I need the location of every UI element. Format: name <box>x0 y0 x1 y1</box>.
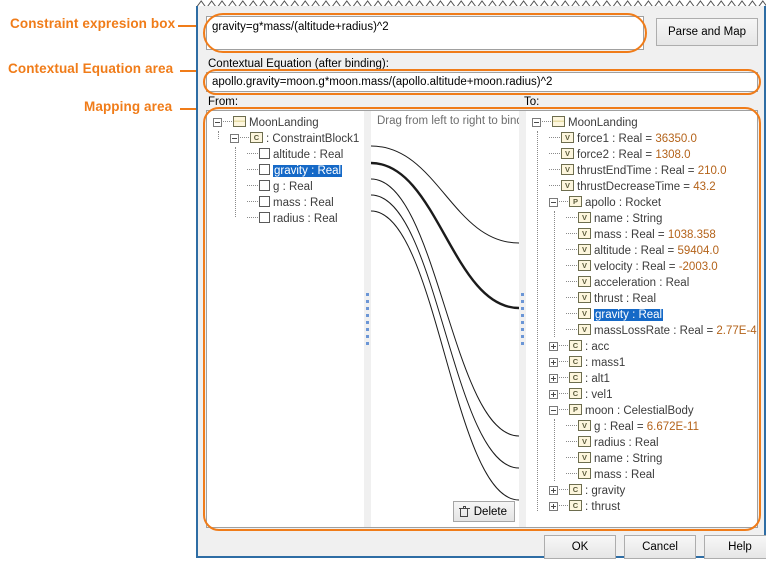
tree-connector <box>554 419 556 481</box>
tree-row[interactable]: g : Real <box>247 179 313 195</box>
expand-icon[interactable] <box>549 342 558 351</box>
value-property-icon: V <box>578 212 591 223</box>
tree-row-label: : alt1 <box>585 373 610 385</box>
tree-row-value: 43.2 <box>693 181 715 193</box>
binding-curves <box>371 111 519 527</box>
tree-connector <box>566 227 578 243</box>
tree-row[interactable]: Vmass : Real = 1038.358 <box>566 227 716 243</box>
tree-row-label: : thrust <box>585 501 620 513</box>
tree-row-label: g : Real <box>273 181 313 193</box>
expression-row: gravity=g*mass/(altitude+radius)^2 Parse… <box>206 16 758 52</box>
tree-row-label: : mass1 <box>585 357 625 369</box>
tree-row[interactable]: VmassLossRate : Real = 2.77E-4 <box>566 323 757 339</box>
tree-row-value: 36350.0 <box>655 133 697 145</box>
tree-connector <box>566 451 578 467</box>
value-property-icon: V <box>561 180 574 191</box>
value-property-icon: V <box>578 324 591 335</box>
tree-connector <box>559 201 568 203</box>
tree-row[interactable]: Vacceleration : Real <box>566 275 689 291</box>
help-button[interactable]: Help <box>704 535 766 559</box>
tree-row[interactable]: Vname : String <box>566 211 662 227</box>
contextual-equation-text: apollo.gravity=moon.g*moon.mass/(apollo.… <box>212 76 552 88</box>
mapping-area: MoonLandingC: ConstraintBlock1altitude :… <box>206 110 758 528</box>
tree-row-label: apollo : Rocket <box>585 197 661 209</box>
tree-connector <box>566 323 578 339</box>
tree-connector <box>566 211 578 227</box>
constraint-parameter-icon <box>259 148 270 159</box>
tree-connector <box>554 211 556 337</box>
tree-row-value: 1308.0 <box>655 149 690 161</box>
tree-row[interactable]: MoonLanding <box>213 115 319 131</box>
trash-icon <box>459 506 470 518</box>
parse-and-map-button[interactable]: Parse and Map <box>656 18 758 46</box>
tree-row[interactable]: Papollo : Rocket <box>549 195 661 211</box>
collapse-icon[interactable] <box>230 134 239 143</box>
annotation-mapping-area: Mapping area <box>84 99 172 114</box>
block-icon <box>552 116 565 127</box>
delete-button-label: Delete <box>474 506 507 518</box>
constraint-block-icon: C <box>569 484 582 495</box>
tree-connector <box>218 131 220 139</box>
tree-row-label: thrustDecreaseTime = 43.2 <box>577 181 716 193</box>
tree-connector <box>566 467 578 483</box>
value-property-icon: V <box>561 132 574 143</box>
tree-row-value: 210.0 <box>698 165 727 177</box>
tree-row-label: gravity : Real <box>273 165 342 177</box>
expand-icon[interactable] <box>549 390 558 399</box>
tree-row[interactable]: VthrustEndTime : Real = 210.0 <box>549 163 726 179</box>
value-property-icon: V <box>578 420 591 431</box>
tree-row-label: velocity : Real = -2003.0 <box>594 261 718 273</box>
tree-row-value: 59404.0 <box>677 245 719 257</box>
value-property-icon: V <box>561 148 574 159</box>
tree-row-label: MoonLanding <box>568 117 638 129</box>
contextual-equation-box: apollo.gravity=moon.g*moon.mass/(apollo.… <box>206 72 758 92</box>
tree-row-label: altitude : Real <box>273 149 343 161</box>
tree-row[interactable]: Vthrust : Real <box>566 291 656 307</box>
tree-row[interactable]: Vforce2 : Real = 1308.0 <box>549 147 691 163</box>
tree-row-value: 1038.358 <box>668 229 716 241</box>
tree-connector <box>566 243 578 259</box>
tree-row[interactable]: gravity : Real <box>247 163 342 179</box>
to-label: To: <box>524 96 539 108</box>
collapse-icon[interactable] <box>213 118 222 127</box>
tree-row-label: : vel1 <box>585 389 613 401</box>
constraint-block-icon: C <box>250 132 263 143</box>
constraint-mapping-dialog: gravity=g*mass/(altitude+radius)^2 Parse… <box>196 6 766 558</box>
tree-row-label: force1 : Real = 36350.0 <box>577 133 697 145</box>
constraint-parameter-icon <box>259 164 270 175</box>
tree-row[interactable]: C: vel1 <box>549 387 613 403</box>
tree-row-label: : acc <box>585 341 609 353</box>
tree-row-value: -2003.0 <box>679 261 718 273</box>
block-icon <box>233 116 246 127</box>
constraint-parameter-icon <box>259 180 270 191</box>
collapse-icon[interactable] <box>549 406 558 415</box>
constraint-expression-box[interactable]: gravity=g*mass/(altitude+radius)^2 <box>206 16 644 50</box>
value-property-icon: V <box>578 276 591 287</box>
binding-canvas[interactable]: Drag from left to right to bind. Delete <box>371 111 519 527</box>
tree-connector <box>537 131 539 511</box>
value-property-icon: V <box>578 452 591 463</box>
tree-row-label: force2 : Real = 1308.0 <box>577 149 691 161</box>
tree-connector <box>559 489 568 491</box>
tree-row-label: name : String <box>594 453 662 465</box>
tree-row[interactable]: Vradius : Real <box>566 435 659 451</box>
binding-curve[interactable] <box>371 146 519 243</box>
part-property-icon: P <box>569 196 582 207</box>
tree-row[interactable]: C: thrust <box>549 499 620 515</box>
tree-row-label: acceleration : Real <box>594 277 689 289</box>
left-splitter[interactable] <box>364 111 371 527</box>
tree-row-label: moon : CelestialBody <box>585 405 694 417</box>
tree-connector <box>549 179 561 195</box>
collapse-icon[interactable] <box>549 198 558 207</box>
tree-row-label: mass : Real = 1038.358 <box>594 229 716 241</box>
delete-binding-button[interactable]: Delete <box>453 501 515 522</box>
constraint-parameter-icon <box>259 196 270 207</box>
tree-row-label: mass : Real <box>594 469 655 481</box>
tree-connector <box>549 147 561 163</box>
dialog-button-row: OK Cancel Help <box>202 535 764 565</box>
tree-connector <box>235 147 237 217</box>
tree-connector <box>566 419 578 435</box>
value-property-icon: V <box>561 164 574 175</box>
constraint-block-icon: C <box>569 356 582 367</box>
tree-row[interactable]: C: ConstraintBlock1 <box>230 131 359 147</box>
tree-connector <box>247 163 259 179</box>
right-splitter[interactable] <box>519 111 526 527</box>
tree-row[interactable]: Valtitude : Real = 59404.0 <box>566 243 719 259</box>
tree-row-label: MoonLanding <box>249 117 319 129</box>
tree-row[interactable]: C: alt1 <box>549 371 610 387</box>
tree-row[interactable]: MoonLanding <box>532 115 638 131</box>
value-property-icon: V <box>578 260 591 271</box>
annotation-constraint-expression-box: Constraint expresion box <box>10 16 175 31</box>
part-property-icon: P <box>569 404 582 415</box>
tree-connector <box>549 163 561 179</box>
tree-connector <box>559 409 568 411</box>
tree-row-label: mass : Real <box>273 197 334 209</box>
tree-connector <box>247 147 259 163</box>
tree-row-label: thrust : Real <box>594 293 656 305</box>
collapse-icon[interactable] <box>532 118 541 127</box>
tree-row[interactable]: C: gravity <box>549 483 625 499</box>
tree-row[interactable]: Vg : Real = 6.672E-11 <box>566 419 699 435</box>
tree-row[interactable]: mass : Real <box>247 195 334 211</box>
tree-row-label: gravity : Real <box>594 309 663 321</box>
tree-row-value: 2.77E-4 <box>716 325 756 337</box>
tree-connector <box>240 137 249 139</box>
tree-connector <box>247 179 259 195</box>
tree-row[interactable]: C: acc <box>549 339 609 355</box>
tree-row-label: radius : Real <box>273 213 338 225</box>
value-property-icon: V <box>578 468 591 479</box>
tree-connector <box>566 291 578 307</box>
tree-row-label: name : String <box>594 213 662 225</box>
tree-connector <box>223 121 232 123</box>
right-splitter-grip <box>521 293 524 345</box>
contextual-equation-label: Contextual Equation (after binding): <box>208 58 389 70</box>
tree-connector <box>566 259 578 275</box>
tree-row[interactable]: Vmass : Real <box>566 467 655 483</box>
tree-row[interactable]: radius : Real <box>247 211 338 227</box>
annotation-contextual-equation-area: Contextual Equation area <box>8 61 173 76</box>
cancel-button[interactable]: Cancel <box>624 535 696 559</box>
value-property-icon: V <box>578 228 591 239</box>
constraint-block-icon: C <box>569 340 582 351</box>
expand-icon[interactable] <box>549 486 558 495</box>
binding-curve[interactable] <box>371 179 519 436</box>
tree-row-label: g : Real = 6.672E-11 <box>594 421 699 433</box>
tree-connector <box>542 121 551 123</box>
tree-row-label: : gravity <box>585 485 625 497</box>
constraint-block-icon: C <box>569 388 582 399</box>
tree-row-label: thrustEndTime : Real = 210.0 <box>577 165 726 177</box>
expand-icon[interactable] <box>549 358 558 367</box>
constraint-block-icon: C <box>569 500 582 511</box>
tree-row-label: massLossRate : Real = 2.77E-4 <box>594 325 757 337</box>
tree-row[interactable]: altitude : Real <box>247 147 343 163</box>
value-property-icon: V <box>578 436 591 447</box>
tree-connector <box>566 435 578 451</box>
tree-row-label: radius : Real <box>594 437 659 449</box>
value-property-icon: V <box>578 292 591 303</box>
binding-curve[interactable] <box>371 163 519 308</box>
tree-connector <box>559 361 568 363</box>
value-property-icon: V <box>578 308 591 319</box>
from-label: From: <box>208 96 238 108</box>
tree-row[interactable]: C: mass1 <box>549 355 625 371</box>
constraint-block-icon: C <box>569 372 582 383</box>
tree-row-label: : ConstraintBlock1 <box>266 133 359 145</box>
expand-icon[interactable] <box>549 502 558 511</box>
from-tree-panel[interactable]: MoonLandingC: ConstraintBlock1altitude :… <box>207 111 364 527</box>
tree-row-label: altitude : Real = 59404.0 <box>594 245 719 257</box>
tree-row[interactable]: VthrustDecreaseTime = 43.2 <box>549 179 716 195</box>
tree-connector <box>559 345 568 347</box>
tree-connector <box>559 393 568 395</box>
left-splitter-grip <box>366 293 369 345</box>
tree-connector <box>559 377 568 379</box>
tree-connector <box>566 307 578 323</box>
ok-button[interactable]: OK <box>544 535 616 559</box>
dialog-content: gravity=g*mass/(altitude+radius)^2 Parse… <box>202 10 760 550</box>
tree-row[interactable]: Vforce1 : Real = 36350.0 <box>549 131 697 147</box>
tree-connector <box>566 275 578 291</box>
tree-connector <box>247 195 259 211</box>
to-tree-panel[interactable]: MoonLandingVforce1 : Real = 36350.0Vforc… <box>526 111 757 527</box>
expand-icon[interactable] <box>549 374 558 383</box>
tree-row[interactable]: Vname : String <box>566 451 662 467</box>
tree-connector <box>559 505 568 507</box>
tree-connector <box>247 211 259 227</box>
constraint-expression-text: gravity=g*mass/(altitude+radius)^2 <box>212 21 389 33</box>
tree-row[interactable]: Vvelocity : Real = -2003.0 <box>566 259 718 275</box>
value-property-icon: V <box>578 244 591 255</box>
tree-row[interactable]: Vgravity : Real <box>566 307 663 323</box>
tree-connector <box>549 131 561 147</box>
tree-row[interactable]: Pmoon : CelestialBody <box>549 403 694 419</box>
constraint-parameter-icon <box>259 212 270 223</box>
tree-row-value: 6.672E-11 <box>647 421 699 433</box>
